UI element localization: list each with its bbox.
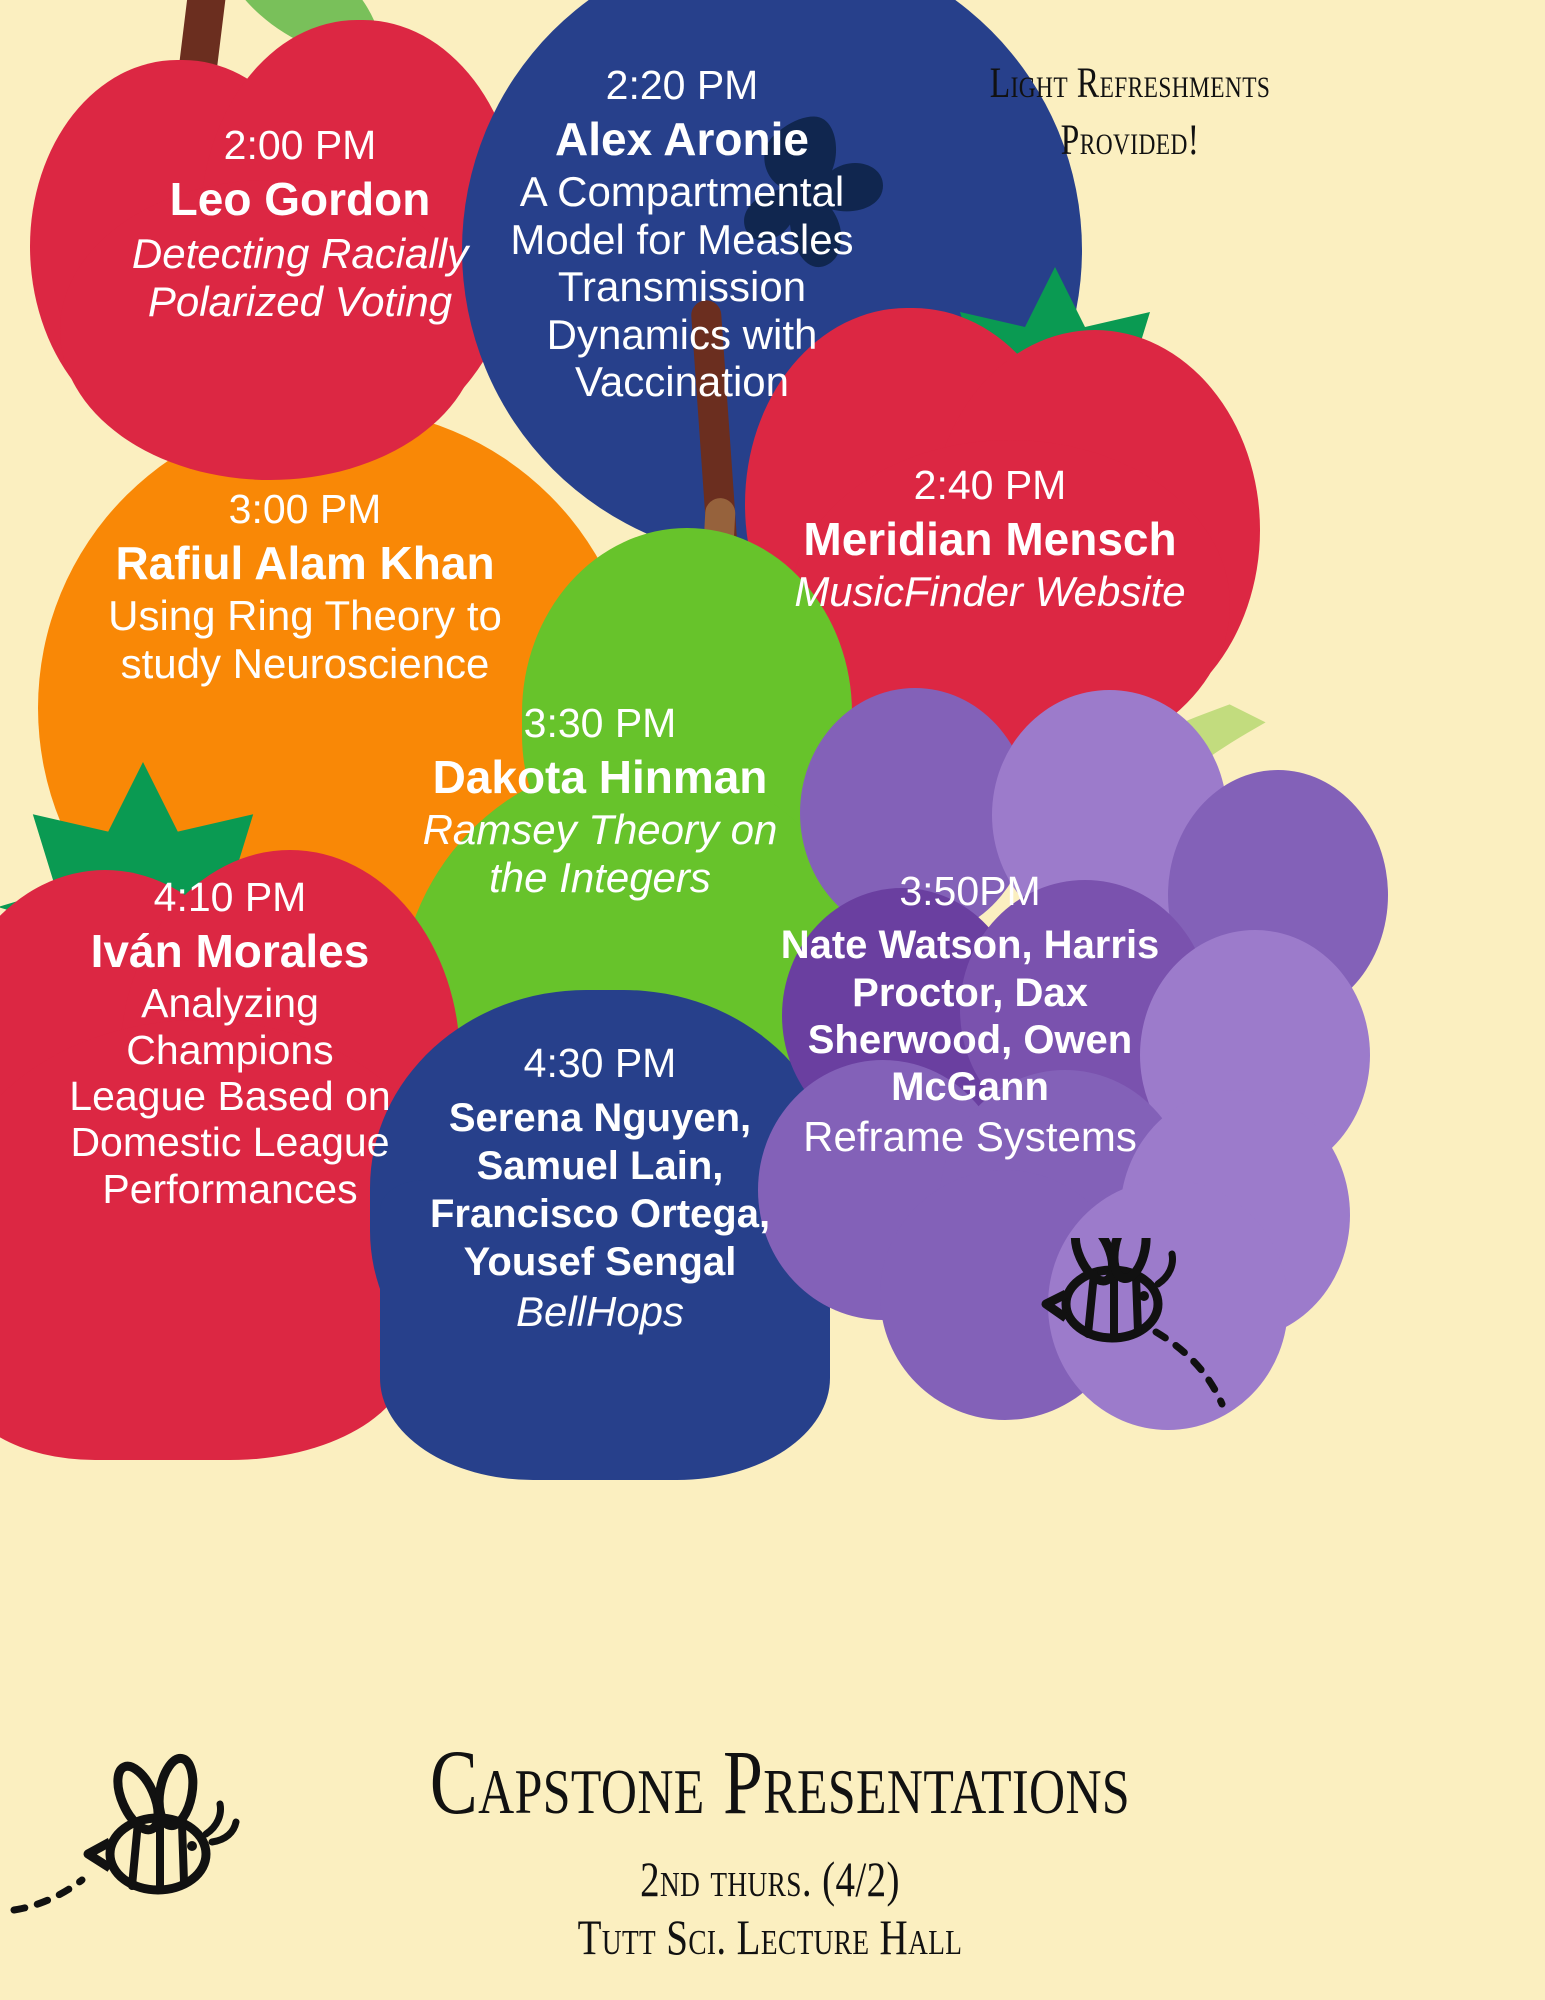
session-alex-aronie: 2:20 PM Alex Aronie A Compartmental Mode… (472, 62, 892, 406)
page-title: Capstone Presentations (296, 1736, 1263, 1828)
session-rafiul-alam-khan: 3:00 PM Rafiul Alam Khan Using Ring Theo… (70, 486, 540, 687)
session-ivan-morales: 4:10 PM Iván Morales Analyzing Champions… (55, 874, 405, 1212)
session-project: Ramsey Theory on the Integers (400, 806, 800, 901)
apple-body-lower-left-d (0, 1200, 410, 1460)
session-presenter: Iván Morales (55, 926, 405, 978)
footer-venue: Tutt Sci. Lecture Hall (419, 1910, 1121, 1965)
session-presenter: Serena Nguyen, Samuel Lain, Francisco Or… (420, 1094, 780, 1286)
session-project: A Compartmental Model for Measles Transm… (472, 168, 892, 405)
session-project: Reframe Systems (760, 1113, 1180, 1160)
session-bellhops: 4:30 PM Serena Nguyen, Samuel Lain, Fran… (420, 1040, 780, 1336)
session-time: 3:50PM (760, 868, 1180, 914)
session-time: 2:20 PM (472, 62, 892, 108)
poster-canvas: 2:00 PM Leo Gordon Detecting Racially Po… (0, 0, 1545, 2000)
session-time: 4:30 PM (420, 1040, 780, 1086)
session-project: MusicFinder Website (760, 568, 1220, 615)
session-presenter: Leo Gordon (80, 174, 520, 226)
session-time: 4:10 PM (55, 874, 405, 920)
footer-date: 2nd thurs. (4/2) (419, 1852, 1121, 1907)
session-project: Analyzing Champions League Based on Dome… (55, 980, 405, 1212)
session-time: 3:30 PM (400, 700, 800, 746)
session-time: 3:00 PM (70, 486, 540, 532)
session-project: Detecting Racially Polarized Voting (80, 230, 520, 325)
bee-left-icon (10, 1730, 240, 1920)
session-presenter: Alex Aronie (472, 114, 892, 166)
session-presenter: Nate Watson, Harris Proctor, Dax Sherwoo… (760, 922, 1180, 1111)
session-presenter: Meridian Mensch (760, 514, 1220, 566)
refreshments-note: Light Refreshments Provided! (958, 56, 1301, 170)
session-time: 2:00 PM (80, 122, 520, 168)
bee-right-icon (1030, 1238, 1270, 1428)
session-leo-gordon: 2:00 PM Leo Gordon Detecting Racially Po… (80, 122, 520, 325)
session-dakota-hinman: 3:30 PM Dakota Hinman Ramsey Theory on t… (400, 700, 800, 901)
session-reframe-systems: 3:50PM Nate Watson, Harris Proctor, Dax … (760, 868, 1180, 1161)
session-presenter: Dakota Hinman (400, 752, 800, 804)
session-time: 2:40 PM (760, 462, 1220, 508)
session-meridian-mensch: 2:40 PM Meridian Mensch MusicFinder Webs… (760, 462, 1220, 616)
session-project: BellHops (420, 1288, 780, 1335)
session-project: Using Ring Theory to study Neuroscience (70, 592, 540, 687)
session-presenter: Rafiul Alam Khan (70, 538, 540, 590)
